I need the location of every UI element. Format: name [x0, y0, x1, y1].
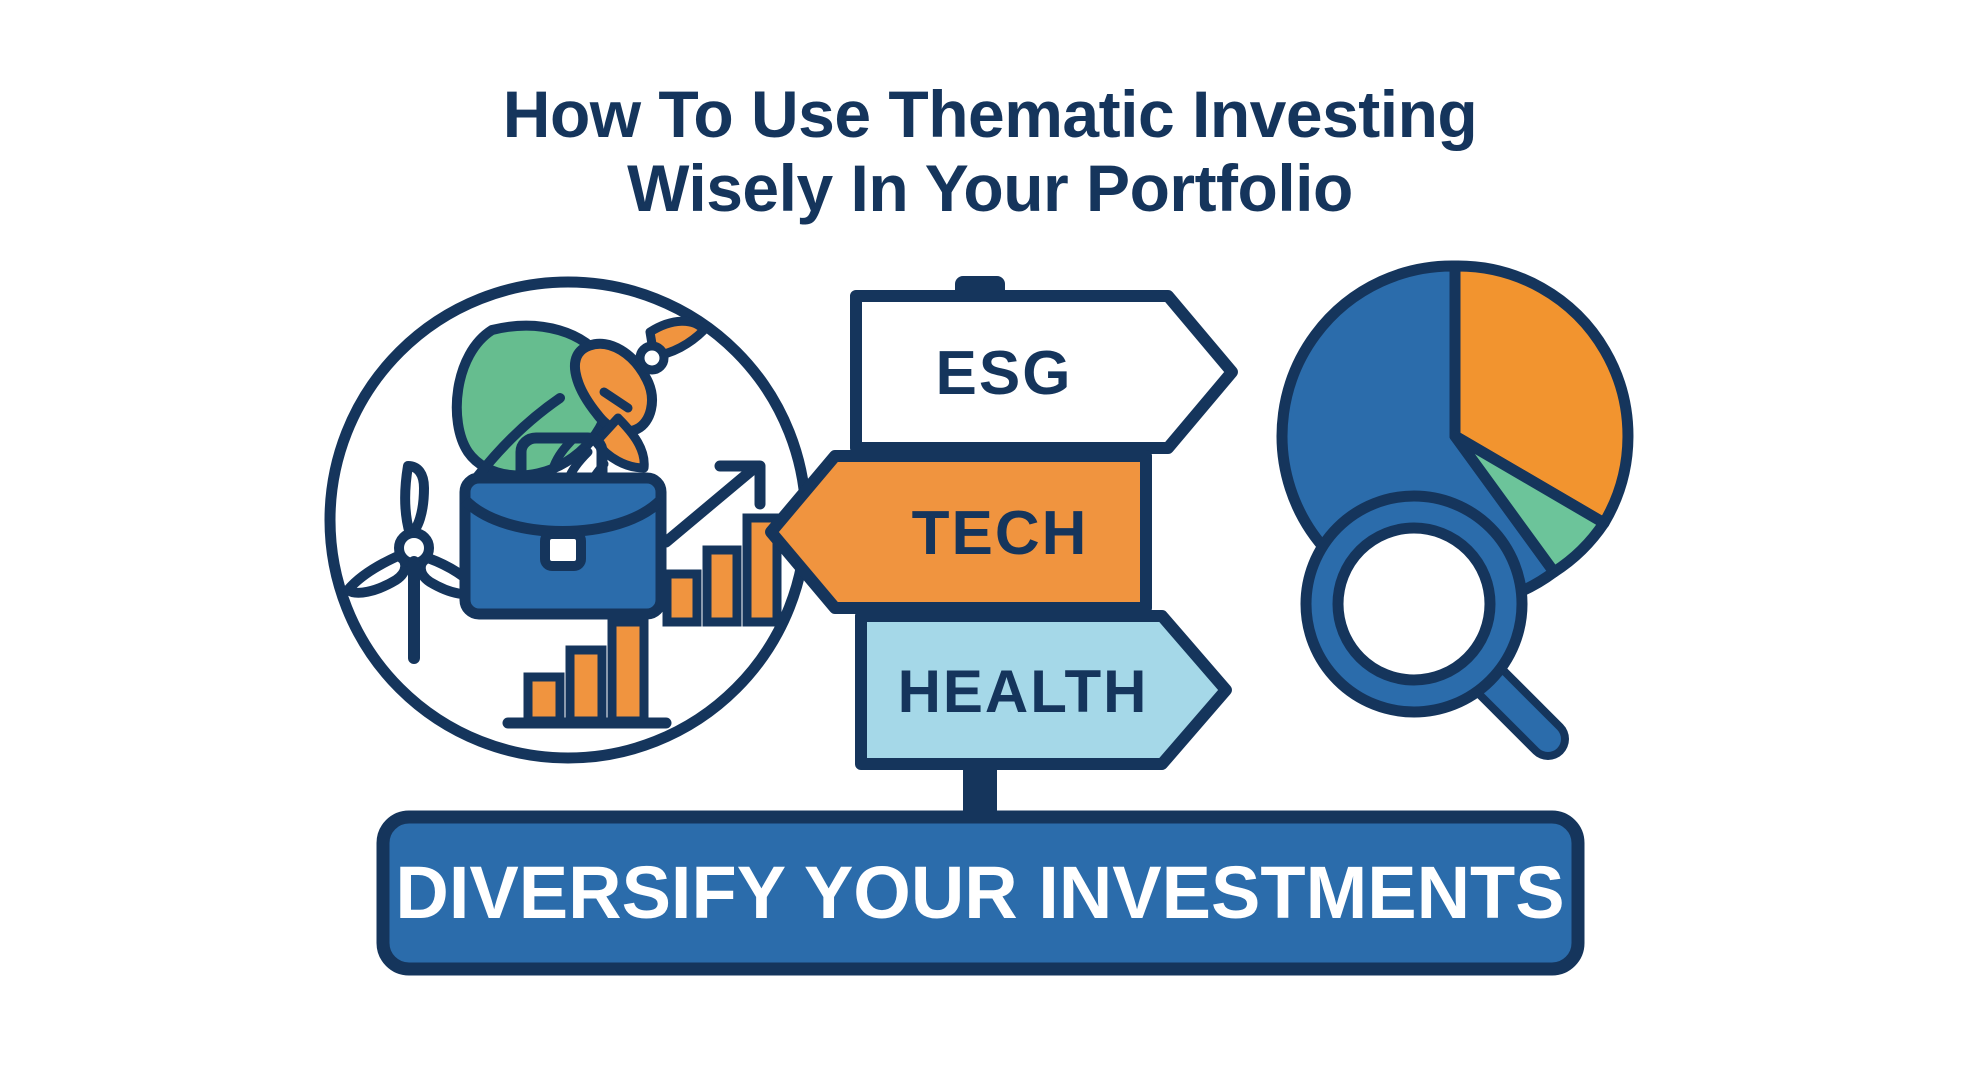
sign-health-label: HEALTH	[898, 658, 1149, 725]
signpost-group: ESG TECH HEALTH	[771, 276, 1232, 836]
pie-chart-group	[1282, 266, 1628, 739]
banner-group[interactable]: DIVERSIFY YOUR INVESTMENTS	[383, 817, 1578, 969]
infographic-canvas: How To Use Thematic Investing Wisely In …	[0, 0, 1980, 1080]
sign-tech-label: TECH	[912, 499, 1089, 568]
theme-circle-group	[330, 282, 806, 758]
sign-esg[interactable]: ESG	[856, 296, 1232, 448]
sign-tech[interactable]: TECH	[771, 456, 1146, 608]
infographic-graphic: ESG TECH HEALTH	[0, 0, 1980, 1080]
banner-label: DIVERSIFY YOUR INVESTMENTS	[395, 851, 1564, 934]
sign-health[interactable]: HEALTH	[861, 616, 1226, 764]
sign-esg-label: ESG	[936, 339, 1073, 408]
